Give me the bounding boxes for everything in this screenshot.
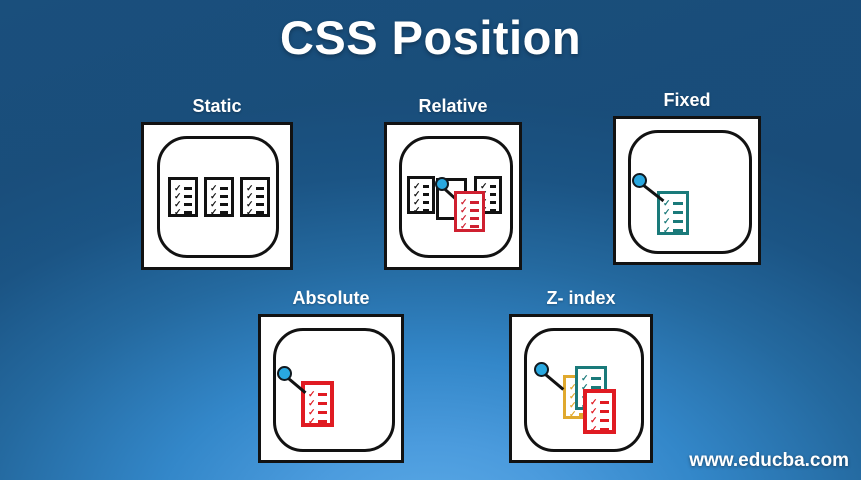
card-label-relative: Relative [384,96,522,117]
slide-canvas: CSS Position Static ✓ ✓ ✓ ✓ ✓ ✓ ✓ ✓ ✓ ✓ … [0,0,861,480]
card-box-absolute: ✓ ✓ ✓ ✓ [258,314,404,463]
checklist-icon: ✓ ✓ ✓ ✓ [407,176,435,214]
page-title: CSS Position [0,8,861,68]
card-box-relative: ✓ ✓ ✓ ✓ ✓ ✓ ✓ ✓ ✓ ✓ ✓ ✓ [384,122,522,270]
card-label-absolute: Absolute [258,288,404,309]
card-static: Static ✓ ✓ ✓ ✓ ✓ ✓ ✓ ✓ ✓ ✓ ✓ ✓ [141,96,293,276]
anchor-dot [632,173,647,188]
card-label-zindex: Z- index [509,288,653,309]
checklist-icon: ✓ ✓ ✓ ✓ [168,177,198,217]
watermark: www.educba.com [689,450,849,472]
card-fixed: Fixed ✓ ✓ ✓ ✓ [613,90,761,272]
anchor-dot [435,177,449,191]
checklist-icon-offset: ✓ ✓ ✓ ✓ [454,191,485,232]
checklist-icon: ✓ ✓ ✓ ✓ [204,177,234,217]
checklist-icon: ✓ ✓ ✓ ✓ [301,381,334,427]
anchor-dot [534,362,549,377]
card-zindex: Z- index ✓ ✓ ✓ ✓ ✓ ✓ ✓ ✓ ✓ ✓ [509,288,653,468]
anchor-dot [277,366,292,381]
card-box-static: ✓ ✓ ✓ ✓ ✓ ✓ ✓ ✓ ✓ ✓ ✓ ✓ [141,122,293,270]
checklist-icon: ✓ ✓ ✓ ✓ [240,177,270,217]
inner-rounded-frame [628,130,752,254]
card-box-zindex: ✓ ✓ ✓ ✓ ✓ ✓ ✓ ✓ ✓ ✓ ✓ ✓ [509,314,653,463]
card-absolute: Absolute ✓ ✓ ✓ ✓ [258,288,404,468]
card-label-static: Static [141,96,293,117]
checklist-icon-layer-front: ✓ ✓ ✓ ✓ [583,389,616,434]
card-box-fixed: ✓ ✓ ✓ ✓ [613,116,761,265]
card-label-fixed: Fixed [613,90,761,111]
card-relative: Relative ✓ ✓ ✓ ✓ ✓ ✓ ✓ ✓ [384,96,522,276]
inner-rounded-frame [273,328,395,452]
